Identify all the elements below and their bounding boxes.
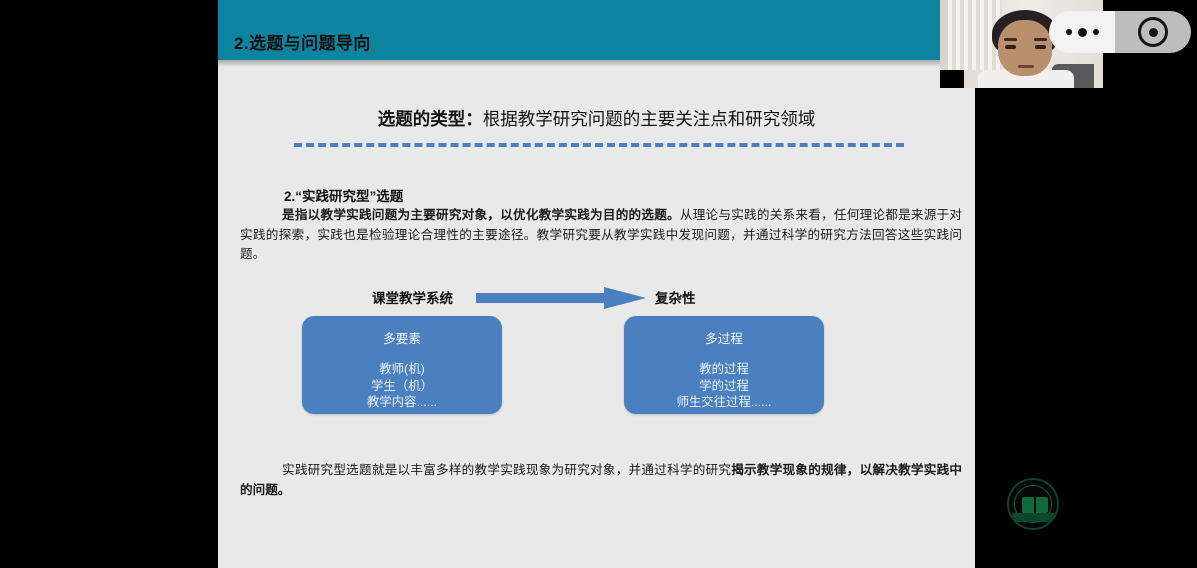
webcam-eye-right [1035,45,1046,49]
school-seal-icon [1007,478,1059,530]
slide-header-shadow [218,60,975,67]
diagram-box-left-lines: 教师(机) 学生（机） 教学内容...... [367,361,437,411]
ellipsis-dot-1 [1066,29,1072,35]
right-arrow-icon [476,286,646,310]
ellipsis-dot-3 [1093,29,1099,35]
webcam-brow-left [1004,38,1017,41]
slide-main-title: 选题的类型：根据教学研究问题的主要关注点和研究领域 [218,106,975,131]
diagram-box-elements: 多要素 教师(机) 学生（机） 教学内容...... [302,316,502,414]
body-paragraph-1-bold: 是指以教学实践问题为主要研究对象，以优化教学实践为目的的选题。 [282,208,680,222]
body-paragraph-1: 是指以教学实践问题为主要研究对象，以优化教学实践为目的的选题。从理论与实践的关系… [240,206,962,265]
floating-control-pill[interactable] [1049,11,1191,53]
diagram-box-left-line-2: 学生（机） [367,378,437,395]
screen-stage: 2.选题与问题导向 选题的类型：根据教学研究问题的主要关注点和研究领域 2.“实… [0,0,1197,568]
diagram-label-right: 复杂性 [655,287,696,307]
record-target-icon [1138,17,1168,47]
webcam-brow-right [1034,38,1047,41]
title-dashed-divider [294,143,904,147]
record-button[interactable] [1115,11,1191,53]
slide-main-title-bold: 选题的类型： [378,109,483,129]
diagram-box-left-line-3: 教学内容...... [367,394,437,411]
diagram-box-right-line-1: 教的过程 [677,361,772,378]
diagram-box-right-lines: 教的过程 学的过程 师生交往过程...... [677,361,772,411]
webcam-eye-left [1005,45,1016,49]
presentation-slide: 2.选题与问题导向 选题的类型：根据教学研究问题的主要关注点和研究领域 2.“实… [218,0,975,568]
more-options-ellipsis-icon[interactable] [1049,11,1115,53]
body-paragraph-2-plain: 实践研究型选题就是以丰富多样的教学实践现象为研究对象，并通过科学的研究 [282,463,731,477]
diagram-box-left-head: 多要素 [383,328,421,347]
diagram-box-left-line-1: 教师(机) [367,361,437,378]
diagram-box-right-head: 多过程 [705,328,743,347]
subsection-heading: 2.“实践研究型”选题 [284,185,403,205]
webcam-mouth [1018,65,1034,68]
diagram-label-left: 课堂教学系统 [372,287,453,307]
body-paragraph-2: 实践研究型选题就是以丰富多样的教学实践现象为研究对象，并通过科学的研究揭示教学现… [240,461,962,500]
ellipsis-dot-2 [1078,28,1087,37]
seal-banner [1012,513,1058,522]
slide-section-title: 2.选题与问题导向 [234,29,371,54]
concept-diagram: 课堂教学系统 复杂性 多要素 教师(机) 学生（机） 教学内容...... 多过… [218,282,975,442]
diagram-box-right-line-3: 师生交往过程...... [677,394,772,411]
webcam-letterbox [940,70,964,88]
seal-book-icon [1022,497,1048,513]
slide-main-title-rest: 根据教学研究问题的主要关注点和研究领域 [483,109,816,129]
diagram-box-processes: 多过程 教的过程 学的过程 师生交往过程...... [624,316,824,414]
diagram-box-right-line-2: 学的过程 [677,378,772,395]
record-inner-dot [1149,28,1158,37]
